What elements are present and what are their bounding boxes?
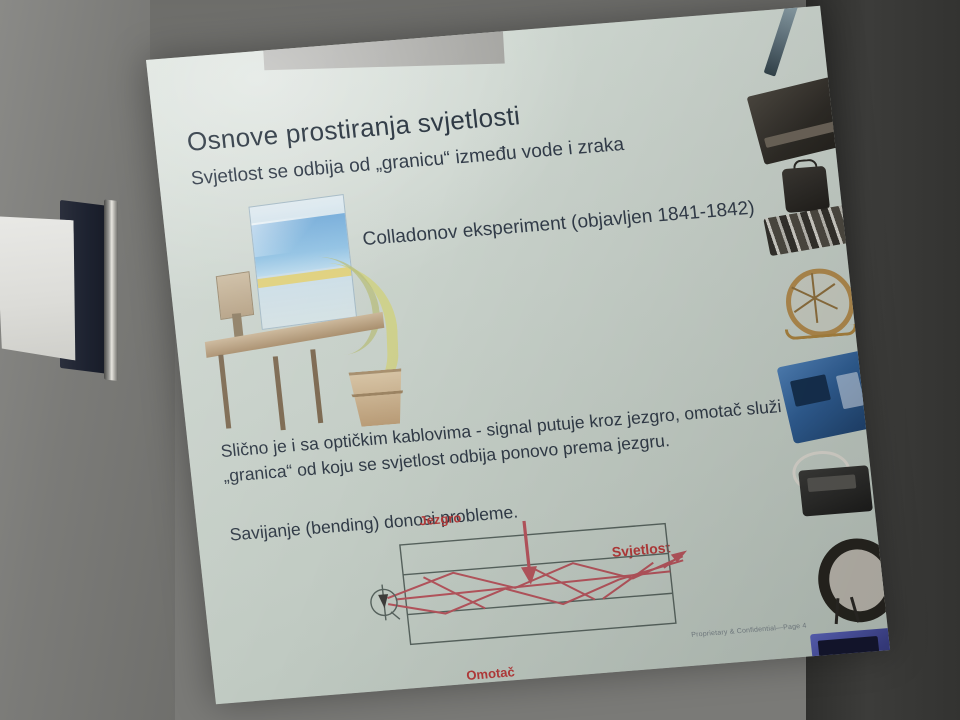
room-photo-scene: Osnove prostiranja svjetlosti Svjetlost … [0,0,960,720]
fiber-diagram [358,508,701,662]
fiber-cleaver-tool-image [741,6,835,80]
table-leg [273,356,286,430]
display-bezel [104,199,118,381]
lamp-stand [232,313,244,338]
cable-coil-image [800,536,890,628]
light-source-symbol [369,583,400,621]
table-leg [218,355,231,429]
core-pointer-arrow [515,514,539,585]
slide-footer: Proprietary & Confidential—Page 4 [691,623,807,639]
slide-subtitle-colladon: Colladonov eksperiment (objavljen 1841-1… [362,198,756,251]
wall-mounted-display [60,200,110,374]
colladon-experiment-illustration [190,189,434,435]
paper-sheet [0,213,78,360]
diagram-label-cladding: Omotač [466,664,516,683]
wooden-bucket-icon [345,368,411,427]
projected-slide: Osnove prostiranja svjetlosti Svjetlost … [146,6,890,704]
